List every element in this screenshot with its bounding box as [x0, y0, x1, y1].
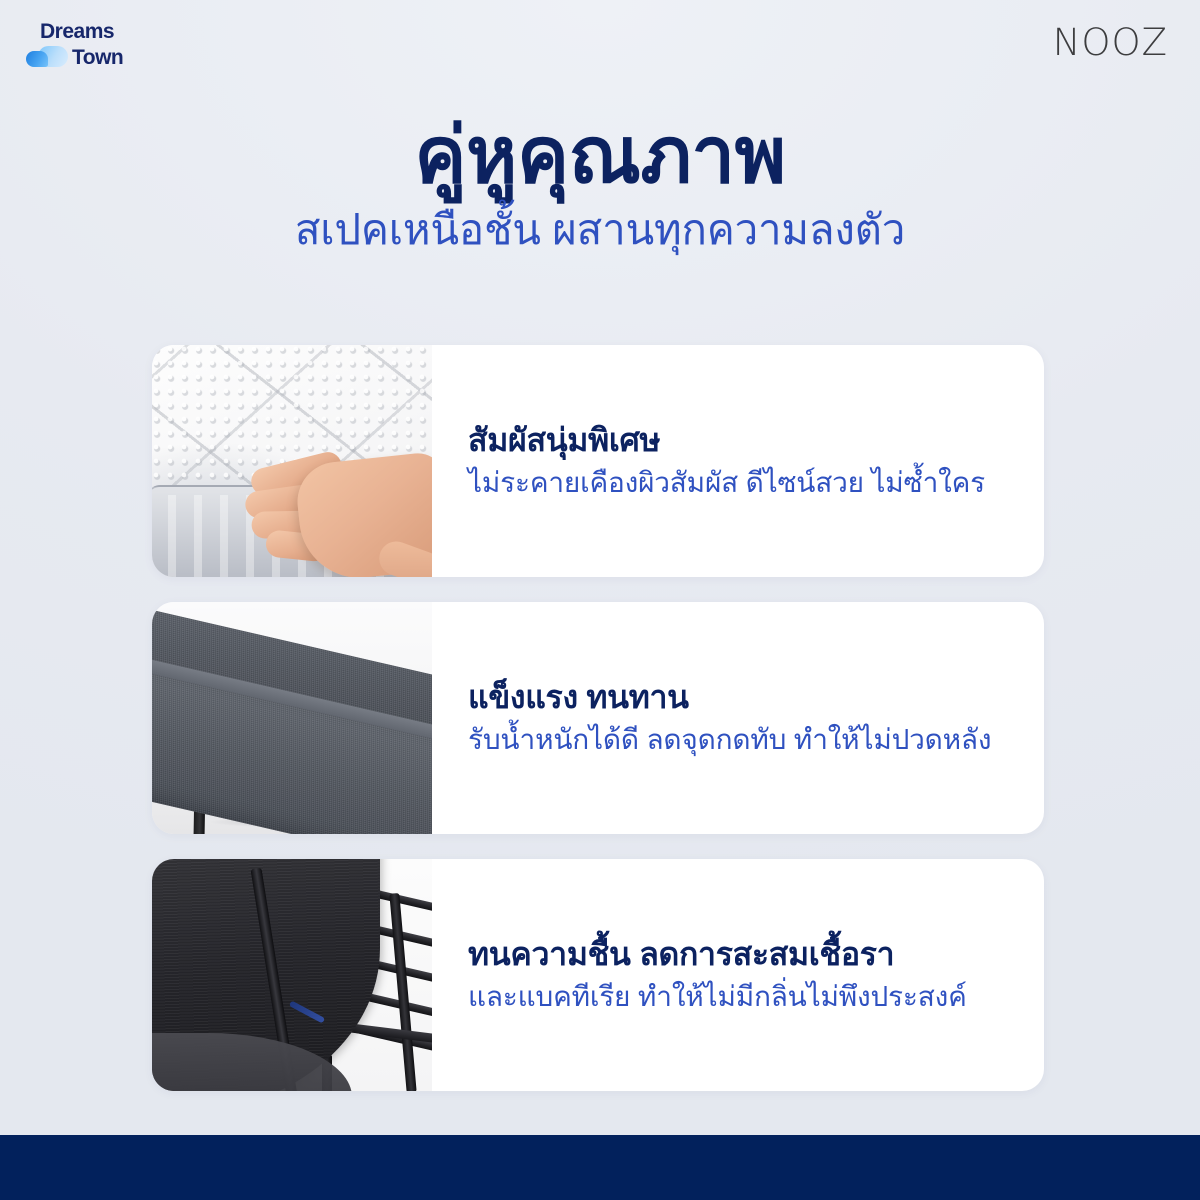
footer-bar	[0, 1135, 1200, 1200]
black-metal-slat-frame-photo	[152, 859, 432, 1091]
feature-card-title: แข็งแรง ทนทาน	[468, 677, 1018, 717]
page-title: คู่หูคุณภาพ	[0, 112, 1200, 199]
brand-name-line1: Dreams	[40, 21, 166, 42]
feature-card[interactable]: แข็งแรง ทนทาน รับน้ำหนักได้ดี ลดจุดกดทับ…	[152, 602, 1044, 834]
feature-card-body: แข็งแรง ทนทาน รับน้ำหนักได้ดี ลดจุดกดทับ…	[432, 602, 1044, 834]
hand-illustration	[252, 408, 432, 577]
feature-card-list: สัมผัสนุ่มพิเศษ ไม่ระคายเคืองผิวสัมผัส ด…	[152, 345, 1044, 1091]
feature-card-description: ไม่ระคายเคืองผิวสัมผัส ดีไซน์สวย ไม่ซ้ำใ…	[468, 465, 1018, 501]
feature-card-body: ทนความชื้น ลดการสะสมเชื้อรา และแบคทีเรีย…	[432, 859, 1044, 1091]
feature-card[interactable]: ทนความชื้น ลดการสะสมเชื้อรา และแบคทีเรีย…	[152, 859, 1044, 1091]
feature-card-title: ทนความชื้น ลดการสะสมเชื้อรา	[468, 934, 1018, 974]
feature-card[interactable]: สัมผัสนุ่มพิเศษ ไม่ระคายเคืองผิวสัมผัส ด…	[152, 345, 1044, 577]
cloud-icon	[26, 46, 68, 68]
mattress-texture-hand-photo	[152, 345, 432, 577]
grey-fabric-bed-base-photo	[152, 602, 432, 834]
page-subtitle: สเปคเหนือชั้น ผสานทุกความลงตัว	[0, 205, 1200, 255]
feature-card-title: สัมผัสนุ่มพิเศษ	[468, 420, 1018, 460]
nooz-logo[interactable]: NOOZ	[1053, 24, 1168, 61]
brand-logo-row: Town	[26, 46, 166, 68]
feature-card-description: และแบคทีเรีย ทำให้ไม่มีกลิ่นไม่พึงประสงค…	[468, 979, 1018, 1015]
brand-name-line2: Town	[72, 47, 123, 68]
dreams-town-logo[interactable]: Dreams Town	[26, 21, 166, 77]
feature-card-description: รับน้ำหนักได้ดี ลดจุดกดทับ ทำให้ไม่ปวดหล…	[468, 722, 1018, 758]
page-header: Dreams Town NOOZ	[0, 0, 1200, 95]
hero-text-block: คู่หูคุณภาพ สเปคเหนือชั้น ผสานทุกความลงต…	[0, 112, 1200, 256]
feature-card-body: สัมผัสนุ่มพิเศษ ไม่ระคายเคืองผิวสัมผัส ด…	[432, 345, 1044, 577]
